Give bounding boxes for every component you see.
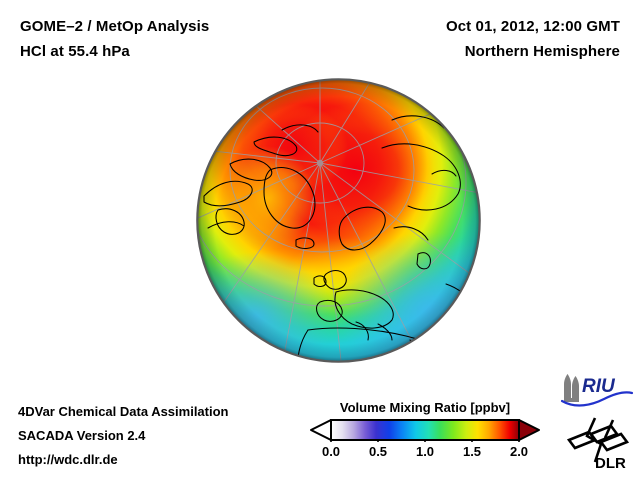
footer-credits: 4DVar Chemical Data Assimilation SACADA … (18, 400, 229, 472)
riu-logo-svg: RIU (558, 372, 634, 408)
riu-logo-text: RIU (582, 376, 616, 397)
colorbar-tick-labels: 0.00.51.01.52.0 (305, 444, 545, 462)
hemisphere-label: Northern Hemisphere (446, 39, 620, 64)
dlr-logo-svg: DLR (565, 414, 637, 472)
riu-logo: RIU (558, 372, 634, 408)
datetime-label: Oct 01, 2012, 12:00 GMT (446, 14, 620, 39)
version-label: SACADA Version 2.4 (18, 424, 229, 448)
colorbar: Volume Mixing Ratio [ppbv] 0.00.51.01.52… (305, 400, 545, 462)
colorbar-tick-label: 0.5 (369, 444, 387, 459)
header-left-block: GOME–2 / MetOp Analysis HCl at 55.4 hPa (20, 14, 209, 64)
riu-towers-icon (564, 374, 579, 402)
method-label: 4DVar Chemical Data Assimilation (18, 400, 229, 424)
url-label[interactable]: http://wdc.dlr.de (18, 448, 229, 472)
header-right-block: Oct 01, 2012, 12:00 GMT Northern Hemisph… (446, 14, 620, 64)
species-level-subtitle: HCl at 55.4 hPa (20, 39, 209, 64)
figure-canvas: GOME–2 / MetOp Analysis HCl at 55.4 hPa … (0, 0, 640, 480)
colorbar-tick-label: 2.0 (510, 444, 528, 459)
colorbar-low-cap (311, 420, 331, 440)
dlr-logo-text: DLR (595, 455, 626, 472)
colorbar-svg (305, 418, 545, 442)
analysis-title: GOME–2 / MetOp Analysis (20, 14, 209, 39)
colorbar-body (331, 420, 519, 440)
colorbar-tick-label: 1.0 (416, 444, 434, 459)
dlr-logo: DLR (565, 414, 637, 472)
colorbar-tick-label: 1.5 (463, 444, 481, 459)
colorbar-graphic (305, 418, 545, 442)
globe-map (196, 78, 481, 363)
colorbar-high-cap (519, 420, 539, 440)
colorbar-title: Volume Mixing Ratio [ppbv] (305, 400, 545, 415)
orthographic-projection (196, 78, 481, 363)
colorbar-tick-label: 0.0 (322, 444, 340, 459)
